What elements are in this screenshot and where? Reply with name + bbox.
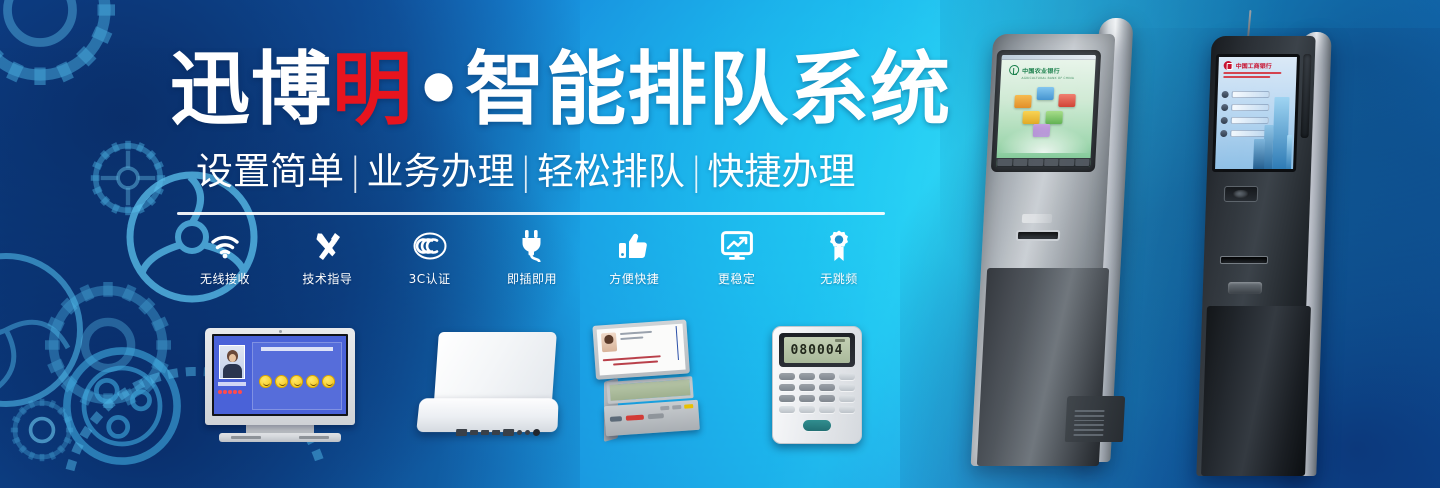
subtitle-separator: | [514, 150, 536, 193]
product-white-control-box [418, 332, 558, 442]
kiosk-icbc-screen-bezel: 中国工商银行 [1212, 54, 1300, 172]
evaluator-staff-photo [601, 332, 617, 352]
keypad-key[interactable] [819, 395, 835, 402]
subtitle-item-3: 轻松排队 [537, 150, 685, 193]
kiosk-abc-screen-glow [997, 125, 1092, 153]
emoji-rating-option[interactable] [290, 375, 303, 388]
page-title: 迅博明•智能排队系统 [170, 42, 910, 138]
kiosk-icbc-screen[interactable]: 中国工商银行 [1215, 57, 1297, 169]
monitor-screen-content [214, 336, 346, 414]
evaluator-key[interactable] [660, 406, 669, 411]
title-bullet: • [413, 43, 465, 136]
monitor-body [205, 328, 355, 425]
title-part-1: 迅博 [170, 43, 332, 136]
keypad-key[interactable] [819, 373, 835, 380]
kiosk-abc-bank-name: 中国农业银行 [1022, 66, 1060, 75]
keypad-enter-button[interactable] [803, 420, 831, 431]
promo-banner: 迅博明•智能排队系统 设置简单|业务办理|轻松排队|快捷办理 无线接收 [0, 0, 1440, 488]
keypad-key[interactable] [819, 406, 835, 413]
evaluator-key-blue[interactable] [609, 416, 621, 422]
evaluator-key-yellow[interactable] [684, 404, 693, 409]
feature-list: 无线接收 技术指导 [177, 228, 887, 290]
product-showcase: 080004 [0, 318, 900, 488]
keypad-key[interactable] [799, 373, 815, 380]
subtitle-separator: | [344, 150, 366, 193]
emoji-rating-option[interactable] [259, 375, 272, 388]
subtitle-separator: | [685, 150, 707, 193]
feature-item-support: 技术指导 [279, 228, 375, 287]
keypad-key[interactable] [779, 373, 795, 380]
ticket-kiosk-icbc: 中国工商银行 [1190, 10, 1380, 488]
wifi-icon [177, 228, 273, 264]
monitor-stand [246, 425, 314, 433]
kiosk-abc-screen-taskbar [996, 158, 1090, 167]
title-part-4: 智能排队系统 [465, 43, 951, 136]
keypad-key[interactable] [839, 406, 855, 413]
feature-item-3c-cert: 3C认证 [382, 228, 478, 287]
feature-item-convenient: 方便快捷 [586, 228, 682, 287]
control-box-ports [456, 429, 548, 436]
keypad-key[interactable] [779, 384, 795, 391]
keypad-key[interactable] [839, 384, 855, 391]
evaluator-prompt-text [603, 354, 678, 369]
feature-item-wireless: 无线接收 [177, 228, 273, 287]
keypad-key[interactable] [799, 395, 815, 402]
kiosk-abc-ticket-slot [1016, 230, 1061, 241]
feature-label: 更稳定 [689, 270, 785, 287]
feature-label: 3C认证 [382, 270, 478, 287]
feature-item-plug-and-play: 即插即用 [484, 228, 580, 287]
product-handheld-keypad: 080004 [772, 326, 862, 446]
staff-name-bar [218, 382, 246, 386]
keypad-key[interactable] [839, 373, 855, 380]
horizontal-divider [177, 212, 885, 215]
emoji-rating-group [258, 357, 336, 405]
feature-label: 即插即用 [484, 270, 580, 287]
control-box-base [416, 398, 558, 432]
product-desktop-evaluator [600, 322, 705, 447]
kiosk-icbc-bank-logo: 中国工商银行 [1219, 57, 1297, 70]
service-icon[interactable] [1037, 87, 1055, 100]
monitor-chart-icon [689, 228, 785, 264]
service-icon[interactable] [1045, 111, 1063, 124]
feature-label: 无线接收 [177, 270, 273, 287]
service-icon[interactable] [1022, 111, 1040, 124]
thumbs-up-icon [586, 228, 682, 264]
kiosk-abc-screen[interactable]: 中国农业银行 AGRICULTURAL BANK OF CHINA [996, 55, 1096, 167]
keypad-key[interactable] [779, 395, 795, 402]
tools-icon [279, 228, 375, 264]
evaluator-key-gray[interactable] [647, 413, 663, 419]
keypad-key[interactable] [799, 384, 815, 391]
subtitle-item-4: 快捷办理 [707, 150, 855, 193]
rating-stars [218, 390, 246, 394]
power-plug-icon [484, 228, 580, 264]
feature-label: 技术指导 [279, 270, 375, 287]
subtitle: 设置简单|业务办理|轻松排队|快捷办理 [196, 146, 896, 198]
abc-logo-mark [1009, 65, 1020, 75]
kiosk-abc-brand-plate [1022, 214, 1052, 223]
keypad-key[interactable] [799, 406, 815, 413]
evaluator-key[interactable] [672, 405, 681, 410]
feature-label: 无跳频 [791, 270, 887, 287]
kiosk-abc-vents [1073, 410, 1104, 436]
kiosk-icbc-building-image [1251, 91, 1294, 169]
monitor-base [219, 433, 341, 442]
staff-photo [219, 345, 245, 379]
emoji-rating-option[interactable] [322, 375, 335, 388]
feature-item-stable: 更稳定 [689, 228, 785, 287]
feature-label: 方便快捷 [586, 270, 682, 287]
kiosk-abc-bank-subtitle: AGRICULTURAL BANK OF CHINA [1001, 76, 1095, 80]
keypad-lcd-value: 080004 [784, 337, 850, 363]
keypad-body: 080004 [772, 326, 862, 444]
emoji-rating-option[interactable] [306, 375, 319, 388]
keypad-display-bezel: 080004 [779, 333, 855, 367]
kiosk-icbc-brand-plate [1228, 282, 1262, 294]
ticket-kiosk-abc: 中国农业银行 AGRICULTURAL BANK OF CHINA [970, 18, 1160, 488]
kiosk-icbc-ticket-slot [1220, 256, 1268, 264]
award-ribbon-icon [791, 228, 887, 264]
evaluator-button-panel [604, 400, 700, 436]
service-icon[interactable] [1058, 94, 1076, 107]
emoji-rating-option[interactable] [275, 375, 288, 388]
kiosk-icbc-lower-body [1201, 306, 1311, 476]
evaluator-lcd-display [606, 376, 693, 404]
keypad-key[interactable] [819, 384, 835, 391]
kiosk-abc-screen-bezel: 中国农业银行 AGRICULTURAL BANK OF CHINA [991, 50, 1101, 172]
kiosk-abc-bank-logo: 中国农业银行 [1001, 60, 1096, 75]
service-icon[interactable] [1014, 95, 1032, 108]
evaluation-panel [252, 342, 342, 410]
keypad-buttons [779, 373, 855, 413]
title-part-highlight: 明 [332, 43, 413, 136]
kiosk-showcase: 中国农业银行 AGRICULTURAL BANK OF CHINA [960, 0, 1440, 488]
subtitle-item-2: 业务办理 [366, 150, 514, 193]
icbc-logo-mark [1224, 61, 1233, 70]
product-evaluation-monitor [205, 328, 355, 443]
ccc-cert-icon [382, 228, 478, 264]
subtitle-item-1: 设置简单 [196, 150, 344, 193]
evaluator-key-red[interactable] [625, 415, 643, 421]
kiosk-icbc-notice-text [1218, 70, 1296, 78]
evaluation-question [261, 347, 333, 351]
kiosk-icbc-bank-name: 中国工商银行 [1236, 61, 1272, 70]
keypad-key[interactable] [839, 395, 855, 402]
evaluator-id-card [592, 319, 690, 379]
monitor-screen [212, 334, 348, 416]
evaluator-staff-info [620, 329, 674, 343]
keypad-key[interactable] [779, 406, 795, 413]
kiosk-icbc-card-reader[interactable] [1224, 186, 1259, 202]
feature-item-no-hopping: 无跳频 [791, 228, 887, 287]
